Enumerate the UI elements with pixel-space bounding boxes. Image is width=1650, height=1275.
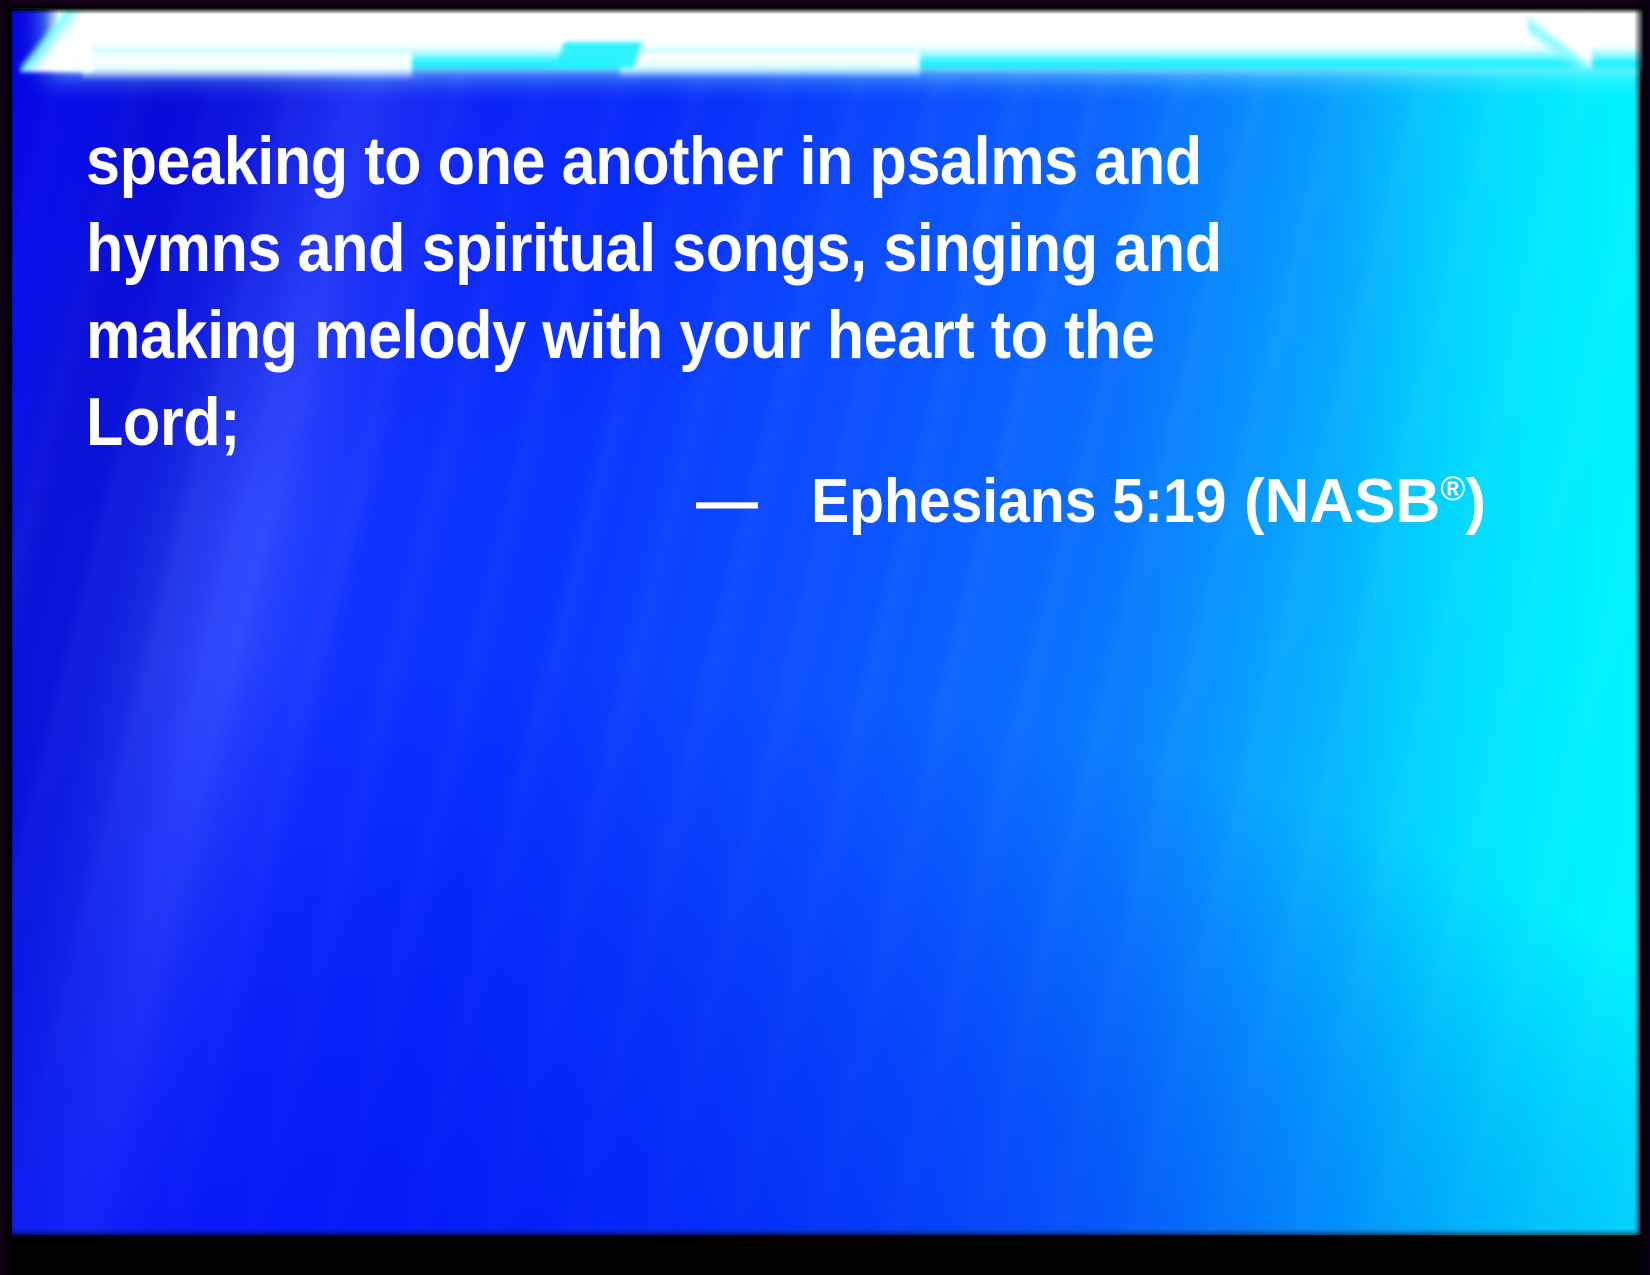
attribution-em-dash: — xyxy=(696,467,758,536)
attribution-translation: NASB xyxy=(1265,467,1441,536)
attribution-reference: Ephesians 5:19 xyxy=(811,463,1226,541)
verse-line-1: speaking to one another in psalms and xyxy=(86,118,1346,205)
verse-attribution: — Ephesians 5:19 (NASB®) xyxy=(86,463,1486,541)
attribution-close-paren: ) xyxy=(1465,467,1486,536)
attribution-open-paren: ( xyxy=(1244,467,1265,536)
top-band-edge-line xyxy=(10,0,1648,9)
verse-line-4: Lord; xyxy=(86,379,1346,466)
verse-text-block: speaking to one another in psalms and hy… xyxy=(86,118,1486,466)
registered-trademark-icon: ® xyxy=(1440,470,1465,508)
verse-line-2: hymns and spiritual songs, singing and xyxy=(86,205,1346,292)
verse-line-3: making melody with your heart to the xyxy=(86,292,1346,379)
verse-slide: speaking to one another in psalms and hy… xyxy=(0,0,1650,1275)
